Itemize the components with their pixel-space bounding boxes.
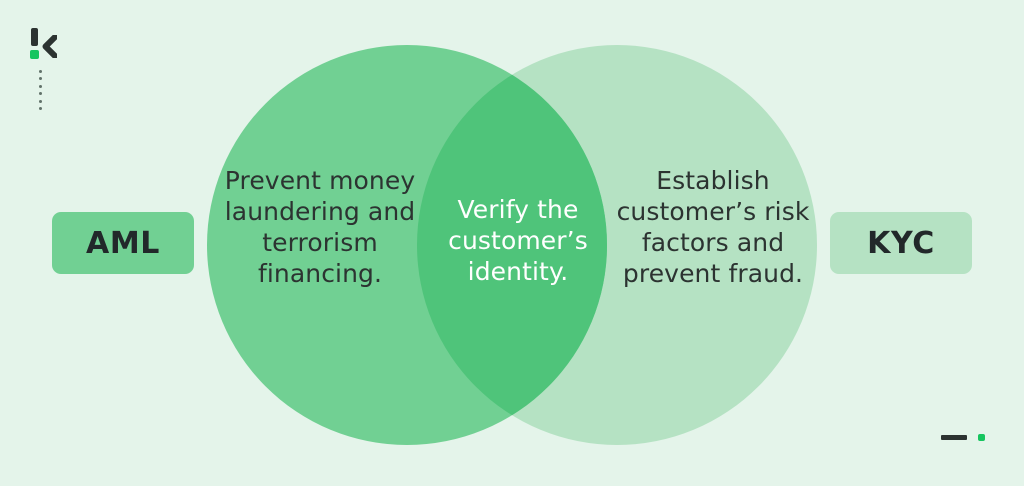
venn-right-text: Establish customer’s risk factors and pr…: [615, 165, 811, 289]
slide-canvas: Prevent money laundering and terrorism f…: [0, 0, 1024, 486]
ornament-dot-icon: [978, 434, 985, 441]
venn-left-text: Prevent money laundering and terrorism f…: [222, 165, 418, 289]
ornament-dash-icon: [941, 435, 967, 440]
badge-aml[interactable]: AML: [52, 212, 194, 274]
badge-kyc[interactable]: KYC: [830, 212, 972, 274]
footer-ornament: [941, 434, 985, 441]
venn-intersection-text: Verify the customer’s identity.: [425, 194, 611, 287]
